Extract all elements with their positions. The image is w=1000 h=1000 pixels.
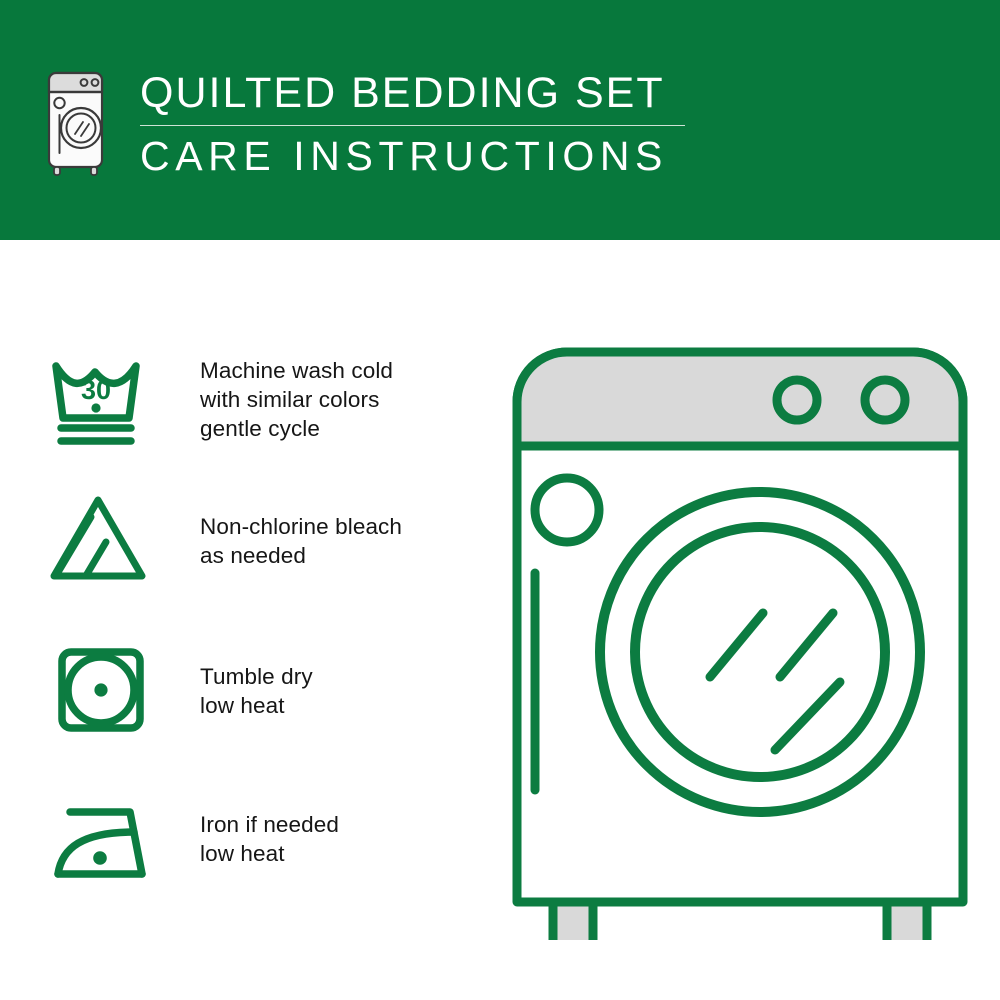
header-banner: QUILTED BEDDING SET CARE INSTRUCTIONS bbox=[0, 0, 1000, 240]
care-label-bleach: Non-chlorine bleach as needed bbox=[200, 490, 402, 570]
header-title-block: QUILTED BEDDING SET CARE INSTRUCTIONS bbox=[140, 68, 700, 180]
wash-tub-30-gentle-icon: 30 bbox=[48, 352, 160, 452]
care-row-bleach: Non-chlorine bleach as needed bbox=[48, 490, 478, 590]
care-row-tumble-dry: Tumble dry low heat bbox=[48, 640, 478, 740]
wash-temperature-label: 30 bbox=[81, 375, 111, 405]
tumble-dry-low-heat-icon bbox=[48, 640, 160, 740]
title-divider bbox=[140, 125, 685, 126]
front-load-washing-machine-illustration bbox=[495, 330, 985, 940]
washing-machine-logo-icon bbox=[46, 70, 108, 176]
care-label-tumble-dry: Tumble dry low heat bbox=[200, 640, 313, 720]
care-row-machine-wash: 30 Machine wash cold with similar colors… bbox=[48, 352, 478, 452]
care-instruction-list: 30 Machine wash cold with similar colors… bbox=[0, 240, 500, 1000]
page-subtitle: CARE INSTRUCTIONS bbox=[140, 132, 700, 180]
care-instructions-infographic: QUILTED BEDDING SET CARE INSTRUCTIONS 30 bbox=[0, 0, 1000, 1000]
control-panel bbox=[517, 352, 963, 446]
care-row-iron: Iron if needed low heat bbox=[48, 790, 478, 890]
page-title: QUILTED BEDDING SET bbox=[140, 68, 700, 118]
non-chlorine-bleach-triangle-icon bbox=[48, 490, 160, 590]
leg-right bbox=[887, 902, 927, 940]
care-label-iron: Iron if needed low heat bbox=[200, 790, 339, 868]
care-label-machine-wash: Machine wash cold with similar colors ge… bbox=[200, 352, 393, 443]
leg-left bbox=[553, 902, 593, 940]
iron-low-heat-icon bbox=[48, 790, 160, 890]
